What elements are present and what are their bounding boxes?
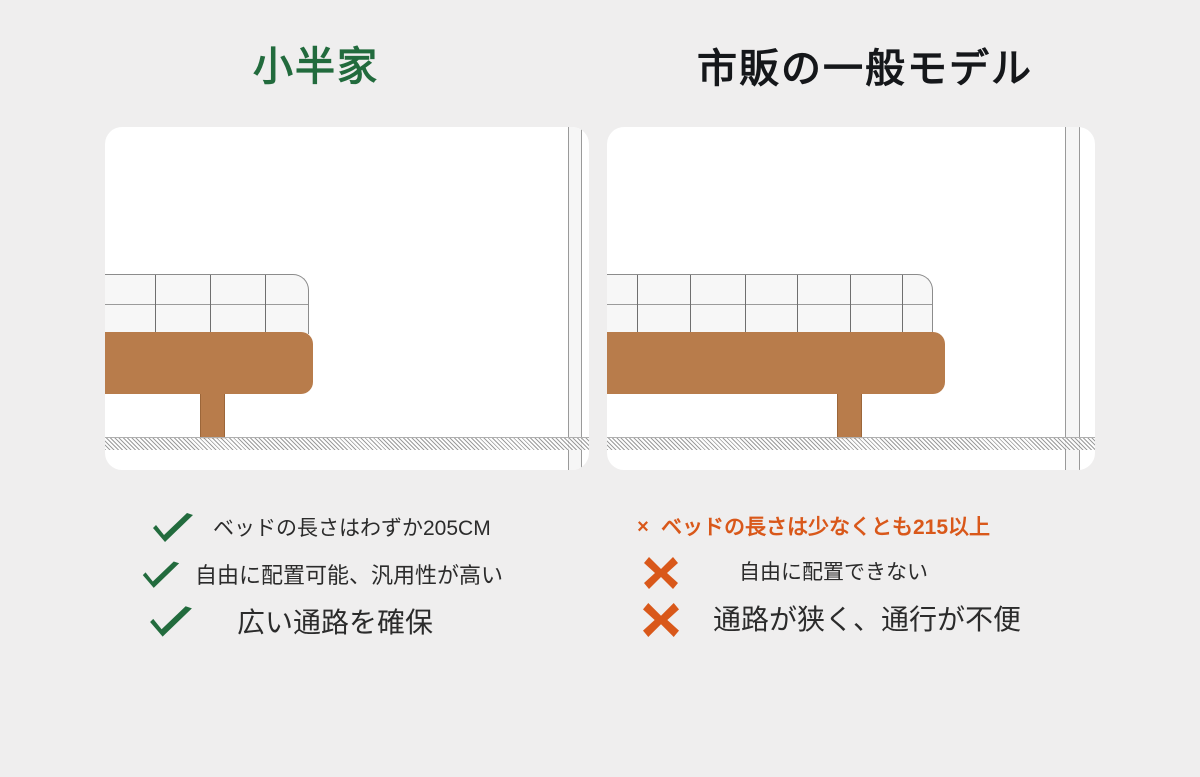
mattress-right: [607, 274, 933, 334]
comparison-infographic: 小半家 ベッドの長さはわずか205CM: [0, 0, 1200, 777]
list-item-label: 自由に配置可能、汎用性が高い: [195, 565, 503, 587]
wall-panel-left: [569, 127, 581, 470]
column-title-left: 小半家: [253, 47, 379, 87]
feature-list-left: ベッドの長さはわずか205CM 自由に配置可能、汎用性が高い 広い通路を確保: [105, 505, 589, 646]
check-icon: [129, 561, 193, 591]
list-item: 自由に配置可能、汎用性が高い: [105, 552, 589, 599]
bed-leg-right: [837, 394, 862, 439]
list-item: 自由に配置できない: [607, 549, 1095, 596]
list-item-label: 広い通路を確保: [237, 609, 433, 637]
check-icon: [141, 513, 205, 545]
illustration-card-left: [105, 127, 589, 470]
mattress-seam-vertical: [797, 275, 798, 334]
mattress-seam-vertical: [902, 275, 903, 334]
list-item-label: 通路が狭く、通行が不便: [713, 606, 1021, 634]
check-icon: [139, 606, 203, 640]
floor-hatch-left: [105, 438, 589, 450]
wall-line-inner-right: [1065, 127, 1066, 470]
bed-leg-left: [200, 394, 225, 439]
mattress-seam-vertical: [155, 275, 156, 334]
mattress-seam-horizontal: [607, 304, 932, 305]
list-item: 広い通路を確保: [105, 599, 589, 646]
list-item-label: 自由に配置できない: [739, 562, 928, 583]
x-icon: ×: [627, 517, 659, 537]
list-item-label: ベッドの長さはわずか205CM: [213, 518, 491, 539]
mattress-seam-horizontal: [105, 304, 308, 305]
illustration-card-right: [607, 127, 1095, 470]
list-item-label: ベッドの長さは少なくとも215以上: [661, 517, 990, 538]
mattress-seam-vertical: [745, 275, 746, 334]
list-item: × ベッドの長さは少なくとも215以上: [607, 505, 1095, 549]
wall-line-outer-right: [1079, 127, 1080, 470]
mattress-seam-vertical: [265, 275, 266, 334]
mattress-left: [105, 274, 309, 334]
bed-base-left: [105, 332, 313, 394]
list-item: 通路が狭く、通行が不便: [607, 596, 1095, 643]
x-icon: [629, 603, 693, 637]
feature-list-right: × ベッドの長さは少なくとも215以上 自由に配置できない 通路が狭く、通行が不…: [607, 505, 1095, 643]
list-item: ベッドの長さはわずか205CM: [105, 505, 589, 552]
x-icon: [629, 557, 693, 589]
wall-line-inner-left: [568, 127, 569, 470]
mattress-seam-vertical: [690, 275, 691, 334]
mattress-seam-vertical: [850, 275, 851, 334]
mattress-seam-vertical: [637, 275, 638, 334]
floor-hatch-right: [607, 438, 1095, 450]
column-title-right: 市販の一般モデル: [697, 49, 1033, 89]
wall-panel-right: [1066, 127, 1079, 470]
bed-base-right: [607, 332, 945, 394]
wall-line-outer-left: [581, 127, 582, 470]
mattress-seam-vertical: [210, 275, 211, 334]
